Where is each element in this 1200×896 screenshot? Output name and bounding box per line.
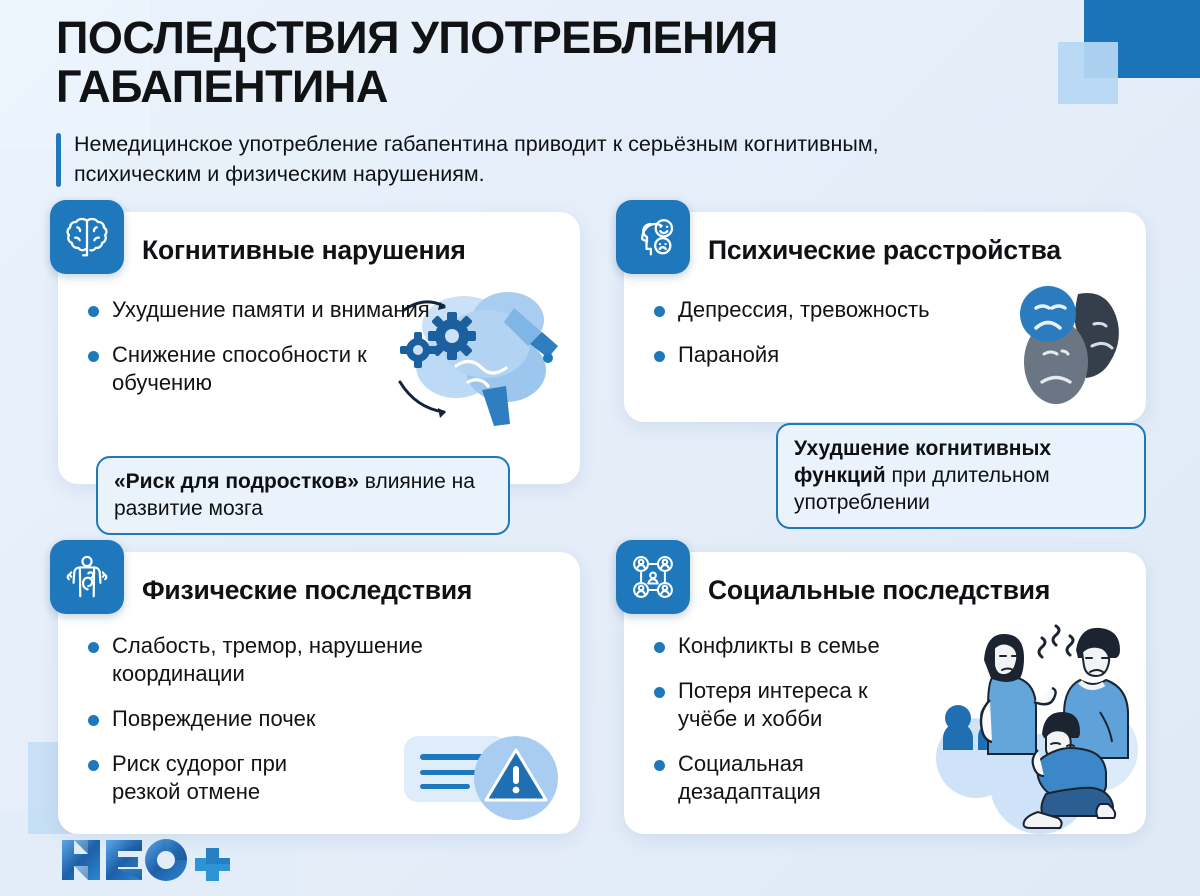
card-cognitive-bullets: Ухудшение памяти и внимания Снижение спо… bbox=[88, 296, 448, 414]
decorative-square-top-right-light bbox=[1058, 42, 1118, 104]
sad-masks-illustration bbox=[982, 272, 1142, 412]
callout-long-term: Ухудшение когнитивных функций при длител… bbox=[776, 423, 1146, 529]
head-emotions-icon bbox=[616, 200, 690, 274]
brain-icon bbox=[50, 200, 124, 274]
bullet-text: Депрессия, тревожность bbox=[678, 296, 930, 324]
bullet-text: Социальная дезадаптация bbox=[678, 750, 858, 806]
bullet-text: Конфликты в семье bbox=[678, 632, 880, 660]
bullet-dot bbox=[88, 351, 99, 362]
bullet-dot bbox=[88, 760, 99, 771]
bullet-text: Снижение способности к обучению bbox=[112, 341, 448, 397]
bullet-dot bbox=[654, 760, 665, 771]
card-mental-title: Психические расстройства bbox=[708, 224, 1061, 276]
bullet-text: Ухудшение памяти и внимания bbox=[112, 296, 430, 324]
bullet-text: Повреждение почек bbox=[112, 705, 316, 733]
subtitle-block: Немедицинское употребление габапентина п… bbox=[56, 130, 986, 189]
callout-teen-risk-text: «Риск для подростков» влияние на развити… bbox=[114, 468, 492, 522]
card-mental-bullets: Депрессия, тревожность Паранойя bbox=[654, 296, 984, 386]
list-item: Потеря интереса к учёбе и хобби bbox=[654, 677, 954, 733]
list-item: Риск судорог при резкой отмене bbox=[88, 750, 478, 806]
bullet-text: Риск судорог при резкой отмене bbox=[112, 750, 352, 806]
callout-teen-risk: «Риск для подростков» влияние на развити… bbox=[96, 456, 510, 535]
card-cognitive: Когнитивные нарушения bbox=[58, 212, 580, 484]
card-physical-bullets: Слабость, тремор, нарушение координации … bbox=[88, 632, 478, 823]
bullet-dot bbox=[88, 642, 99, 653]
bullet-dot bbox=[88, 306, 99, 317]
card-cognitive-title: Когнитивные нарушения bbox=[142, 224, 466, 276]
list-item: Повреждение почек bbox=[88, 705, 478, 733]
header: ПОСЛЕДСТВИЯ УПОТРЕБЛЕНИЯ ГАБАПЕНТИНА Нем… bbox=[56, 14, 1056, 190]
bullet-dot bbox=[654, 642, 665, 653]
card-social-bullets: Конфликты в семье Потеря интереса к учёб… bbox=[654, 632, 954, 823]
callout-teen-risk-bold: «Риск для подростков» bbox=[114, 470, 359, 493]
card-social-title: Социальные последствия bbox=[708, 564, 1050, 616]
card-physical: Физические последствия Слабость, тремор,… bbox=[58, 552, 580, 834]
brand-logo: НЕО+ bbox=[60, 838, 230, 882]
list-item: Конфликты в семье bbox=[654, 632, 954, 660]
callout-long-term-text: Ухудшение когнитивных функций при длител… bbox=[794, 435, 1128, 516]
bullet-dot bbox=[654, 306, 665, 317]
list-item: Паранойя bbox=[654, 341, 984, 369]
list-item: Ухудшение памяти и внимания bbox=[88, 296, 448, 324]
card-physical-title: Физические последствия bbox=[142, 564, 472, 616]
bullet-dot bbox=[654, 351, 665, 362]
subtitle-accent-bar bbox=[56, 133, 61, 186]
list-item: Социальная дезадаптация bbox=[654, 750, 954, 806]
list-item: Снижение способности к обучению bbox=[88, 341, 448, 397]
bullet-text: Слабость, тремор, нарушение координации bbox=[112, 632, 478, 688]
card-social: Социальные последствия bbox=[624, 552, 1146, 834]
list-item: Депрессия, тревожность bbox=[654, 296, 984, 324]
card-mental: Психические расстройства Депрессия, трев… bbox=[624, 212, 1146, 422]
list-item: Слабость, тремор, нарушение координации bbox=[88, 632, 478, 688]
bullet-dot bbox=[654, 687, 665, 698]
social-network-icon bbox=[616, 540, 690, 614]
family-conflict-illustration bbox=[930, 608, 1150, 834]
bullet-dot bbox=[88, 715, 99, 726]
bullet-text: Потеря интереса к учёбе и хобби bbox=[678, 677, 903, 733]
page-title: ПОСЛЕДСТВИЯ УПОТРЕБЛЕНИЯ ГАБАПЕНТИНА bbox=[56, 14, 1056, 111]
body-organs-icon bbox=[50, 540, 124, 614]
bullet-text: Паранойя bbox=[678, 341, 779, 369]
page-subtitle: Немедицинское употребление габапентина п… bbox=[74, 130, 986, 189]
